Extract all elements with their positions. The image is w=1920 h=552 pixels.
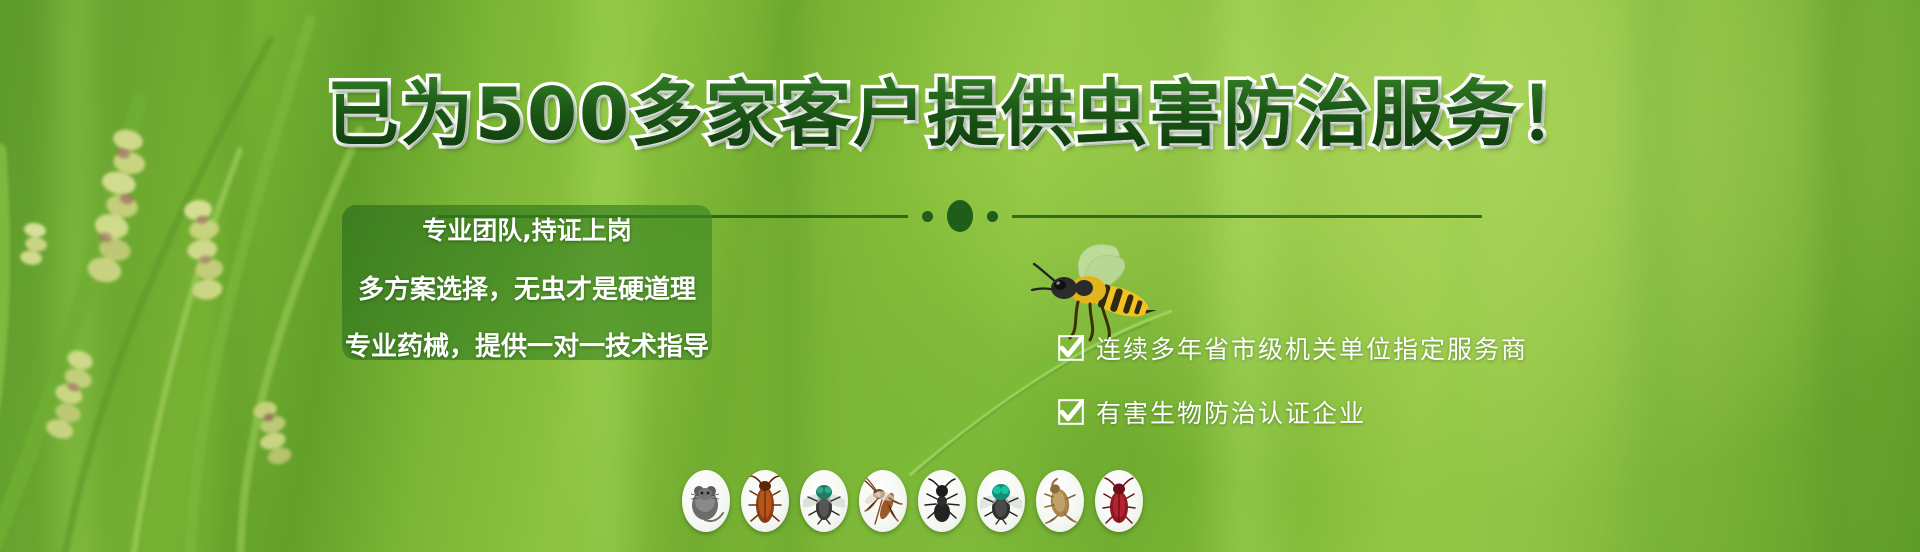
- page-title: 已为500多家客户提供虫害防治服务！: [327, 78, 1593, 150]
- flea-icon: [1042, 477, 1078, 525]
- mosquito-icon: [863, 476, 903, 526]
- bullet-list: 连续多年省市级机关单位指定服务商 有害生物防治认证企业: [1058, 330, 1528, 430]
- bedbug-icon: [1102, 476, 1136, 526]
- housefly-icon: [803, 477, 845, 525]
- bullet-label: 有害生物防治认证企业: [1096, 394, 1366, 430]
- pest-icon-item[interactable]: [800, 470, 848, 532]
- feature-box: 专业团队,持证上岗 多方案选择，无虫才是硬道理 专业药械，提供一对一技术指导: [342, 205, 712, 360]
- divider: [0, 200, 1920, 232]
- pest-icon-item[interactable]: [1095, 470, 1143, 532]
- list-item: 连续多年省市级机关单位指定服务商: [1058, 330, 1528, 366]
- list-item: 有害生物防治认证企业: [1058, 394, 1528, 430]
- checkbox-checked-icon: [1058, 335, 1084, 361]
- divider-dot-large: [947, 200, 973, 232]
- feature-line-2: 多方案选择，无虫才是硬道理: [358, 269, 696, 306]
- pest-icon-item[interactable]: [977, 470, 1025, 532]
- pest-icon-item[interactable]: [682, 470, 730, 532]
- headline-stroke-layer: 已为500多家客户提供虫害防治服务！: [0, 78, 1920, 150]
- divider-rule-right: [1012, 215, 1482, 218]
- checkbox-checked-icon: [1058, 399, 1084, 425]
- feature-line-3: 专业药械，提供一对一技术指导: [345, 326, 709, 363]
- hero-banner: 已为500多家客户提供虫害防治服务！ 已为500多家客户提供虫害防治服务！: [0, 0, 1920, 552]
- cockroach-icon: [748, 475, 782, 527]
- mouse-icon: [685, 475, 727, 527]
- ant-icon: [923, 478, 961, 524]
- pest-icon-item[interactable]: [741, 470, 789, 532]
- pest-icon-item[interactable]: [1036, 470, 1084, 532]
- bullet-label: 连续多年省市级机关单位指定服务商: [1096, 330, 1528, 366]
- divider-dot-small-right: [987, 211, 998, 222]
- pest-icon-item[interactable]: [918, 470, 966, 532]
- divider-dot-small-left: [922, 211, 933, 222]
- pest-icon-item[interactable]: [859, 470, 907, 532]
- feature-line-1: 专业团队,持证上岗: [422, 211, 632, 247]
- pest-icon-strip: [682, 470, 1143, 532]
- blowfly-icon: [980, 477, 1022, 525]
